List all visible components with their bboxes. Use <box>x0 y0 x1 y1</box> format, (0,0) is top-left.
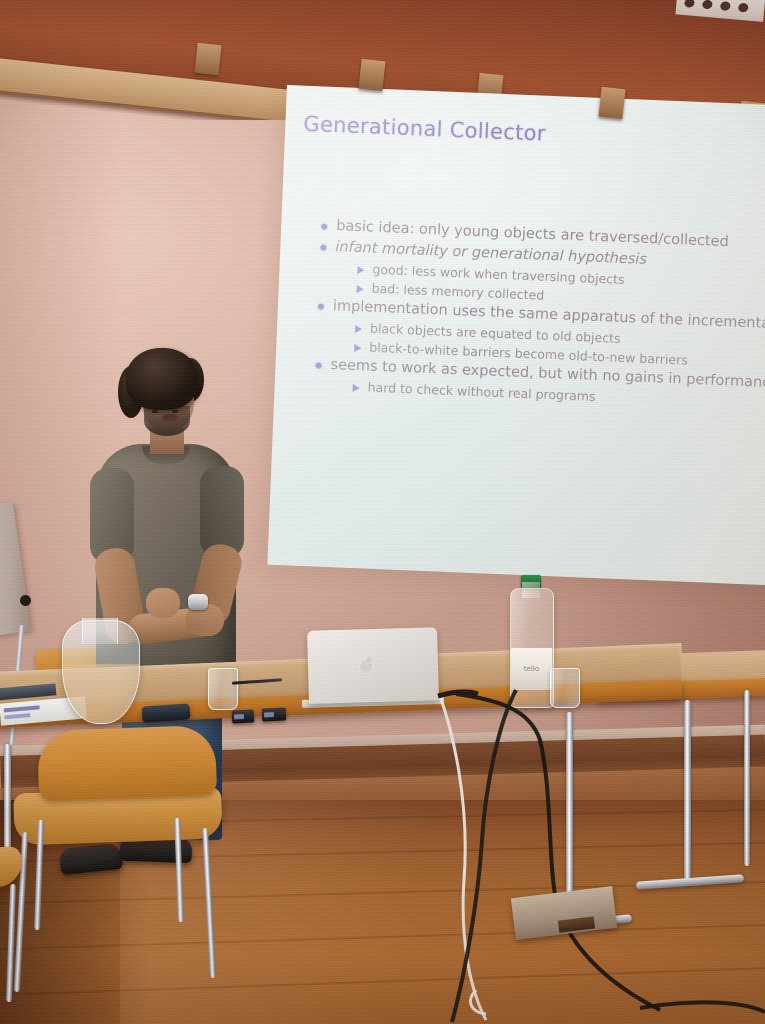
drinking-glass-left[interactable] <box>208 668 238 710</box>
bullet-dot-icon <box>318 303 324 309</box>
flipchart-knob <box>20 595 31 606</box>
apple-logo-icon <box>360 660 372 673</box>
lecture-room-photo: Generational Collector basic idea: only … <box>0 0 765 1024</box>
presenter-beard <box>144 406 190 436</box>
vga-adapter-2[interactable] <box>262 707 287 721</box>
presenter-hair <box>126 348 198 410</box>
chair-backrest-front[interactable] <box>37 725 217 801</box>
beam-peg <box>194 43 221 75</box>
bullet-triangle-icon <box>352 384 359 392</box>
bullet-triangle-icon <box>357 285 364 293</box>
bullet-dot-icon <box>321 224 327 230</box>
projection-screen: Generational Collector basic idea: only … <box>267 85 765 585</box>
presenter-remote[interactable] <box>142 703 191 722</box>
presenter-hand-left <box>146 588 180 618</box>
bottle-label: tello <box>511 648 552 690</box>
bullet-triangle-icon <box>355 325 362 333</box>
side-table-leg <box>684 700 691 886</box>
beam-peg <box>358 59 385 91</box>
bullet-triangle-icon <box>354 344 361 352</box>
vga-adapter-1[interactable] <box>232 709 255 723</box>
bullet-dot-icon <box>320 245 326 251</box>
beam-peg <box>598 87 625 119</box>
bullet-triangle-icon <box>357 266 364 274</box>
presenter-shoe-left <box>59 843 123 875</box>
water-carafe[interactable] <box>62 620 140 724</box>
laptop-lid[interactable] <box>307 627 439 704</box>
carafe-water <box>63 664 139 723</box>
bullet-dot-icon <box>315 362 321 368</box>
slide-bullet-list: basic idea: only young objects are trave… <box>314 217 765 415</box>
wristwatch <box>188 594 208 610</box>
side-table-leg-rear <box>744 690 750 866</box>
drinking-glass-right[interactable] <box>550 668 580 708</box>
slide-title: Generational Collector <box>303 112 546 146</box>
presenter-mouth <box>162 414 178 421</box>
